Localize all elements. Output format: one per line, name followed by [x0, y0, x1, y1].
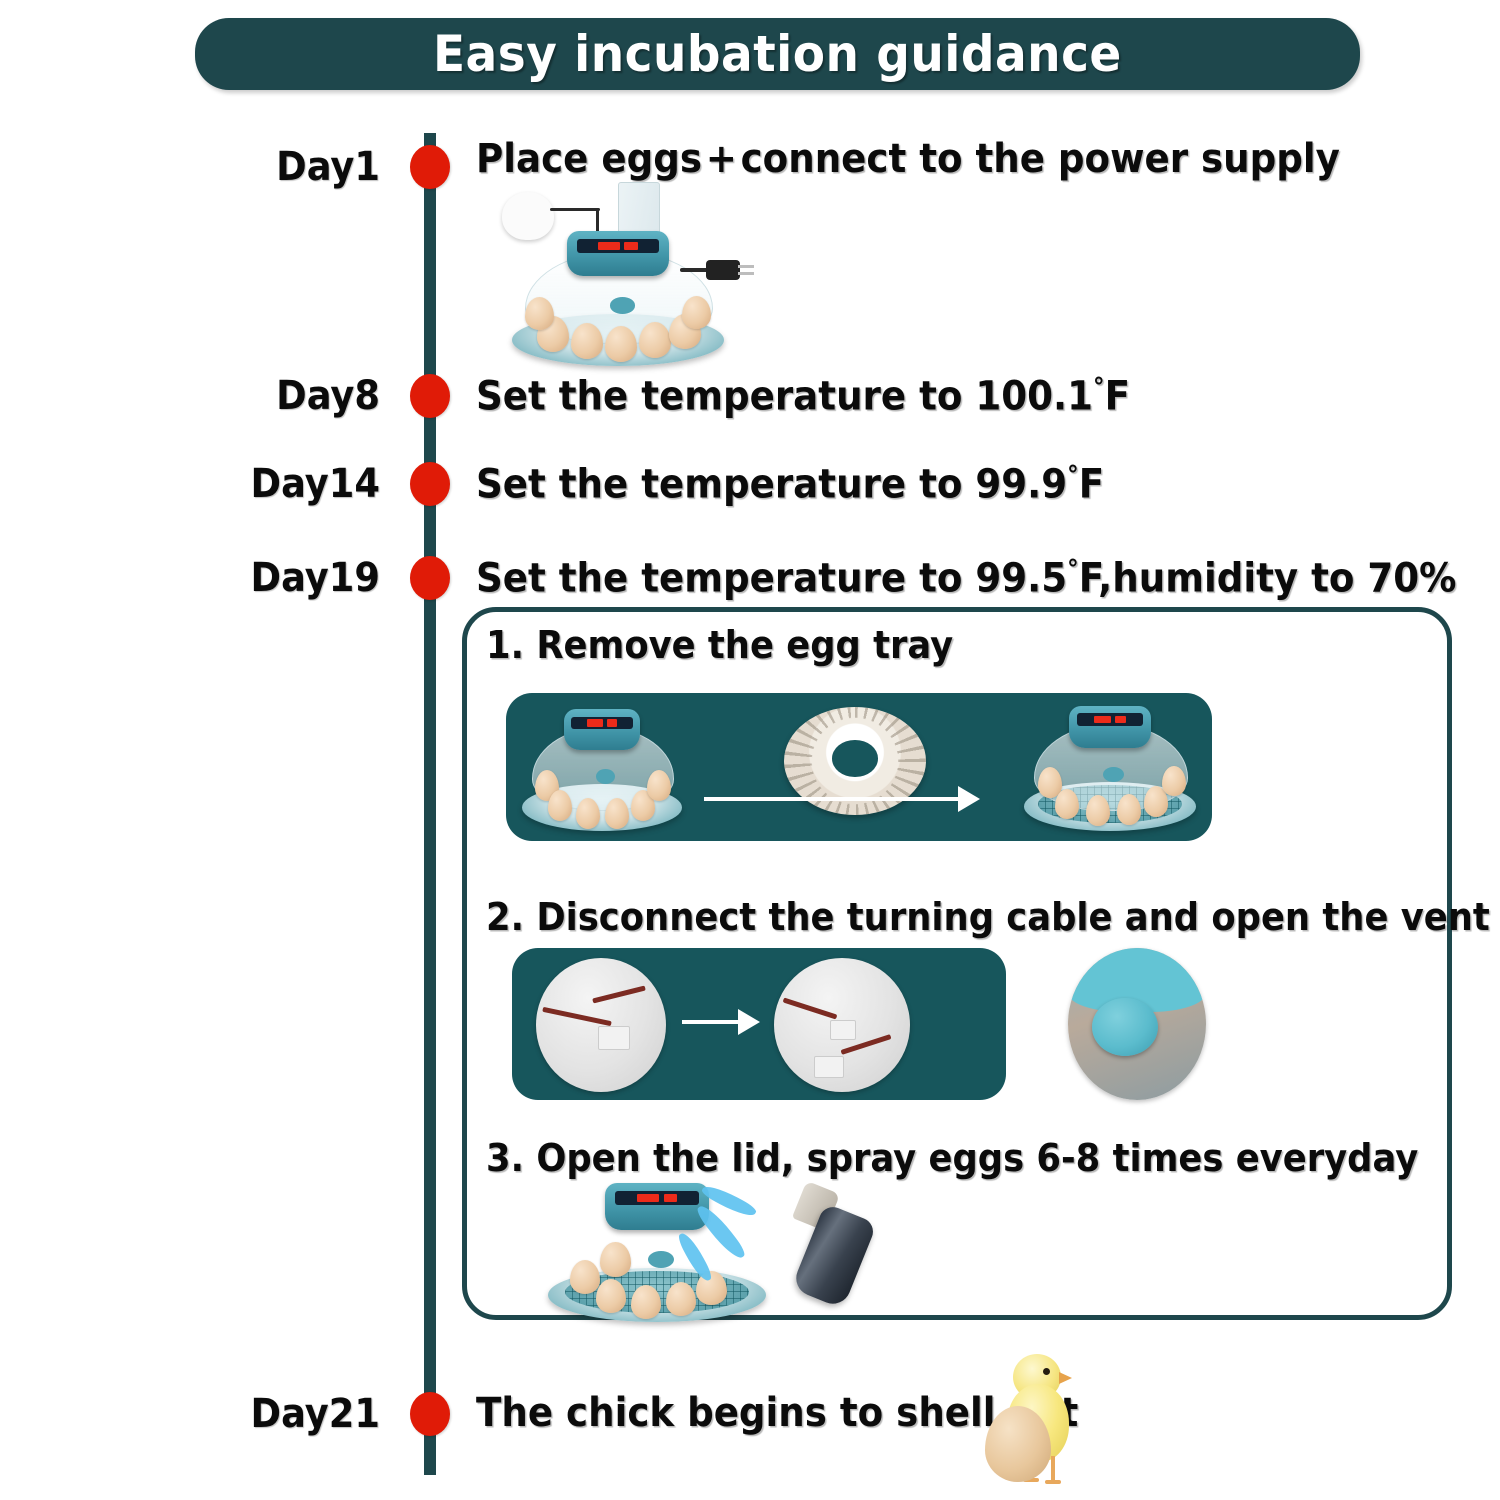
timeline-text-day8: Set the temperature to 100.1°F — [476, 372, 1130, 419]
incubator-control-panel — [605, 1183, 710, 1230]
plus-glyph: + — [702, 136, 741, 182]
egg — [1055, 789, 1079, 820]
display-segment — [1094, 716, 1111, 724]
substep-1-title: 1. Remove the egg tray — [486, 623, 953, 667]
timeline-text-day19-value: Set the temperature to 99.5 — [476, 555, 1067, 601]
chick-leg — [1051, 1456, 1055, 1482]
timeline-dot-day8 — [410, 374, 450, 418]
egg — [666, 1282, 697, 1316]
incubator-display — [577, 239, 658, 253]
egg — [570, 1260, 601, 1294]
display-segment — [607, 719, 617, 726]
turning-cable — [783, 997, 838, 1019]
timeline-text-day8-unit: F — [1105, 373, 1130, 419]
timeline-label-day19: Day19 — [159, 555, 380, 601]
incubator-display — [615, 1191, 699, 1205]
substep-2-photo-panel — [512, 948, 1006, 1100]
timeline-label-day21: Day21 — [159, 1391, 380, 1437]
timeline-text-day14-unit: F — [1079, 461, 1104, 507]
incubator-display — [1077, 713, 1143, 726]
cable-connector — [598, 1026, 630, 1050]
egg — [1162, 766, 1186, 797]
timeline-dot-day1 — [410, 145, 450, 189]
chick-foot — [1045, 1480, 1061, 1484]
vent-hole-photo — [1068, 948, 1206, 1100]
incubator-display — [571, 717, 632, 729]
egg — [548, 790, 572, 821]
degree-icon: ° — [1067, 554, 1079, 583]
turning-cable — [542, 1007, 612, 1026]
substep-3-illustration — [548, 1180, 948, 1325]
substep-1-photo-panel — [506, 693, 1212, 841]
page-title: Easy incubation guidance — [433, 25, 1122, 83]
display-segment — [664, 1194, 677, 1202]
timeline-label-day14: Day14 — [159, 461, 380, 507]
vent-knob-icon — [610, 297, 635, 314]
timeline-text-day8-value: Set the temperature to 100.1 — [476, 373, 1093, 419]
lamp-cord — [550, 208, 600, 211]
egg — [525, 297, 555, 330]
timeline-text-day1: Place eggs+connect to the power supply — [476, 136, 1340, 182]
illustration-incubator-power-supply — [492, 182, 742, 368]
timeline-label-day1: Day1 — [159, 144, 380, 190]
incubator-with-tray — [522, 707, 682, 831]
timeline-dot-day14 — [410, 462, 450, 506]
timeline-label-day8: Day8 — [159, 373, 380, 419]
chick-beak — [1059, 1372, 1072, 1384]
arrow-right-icon — [704, 797, 976, 801]
timeline-dot-day21 — [410, 1392, 450, 1436]
substep-2-title: 2. Disconnect the turning cable and open… — [486, 895, 1500, 939]
egg — [639, 322, 671, 358]
cable-connected-photo — [536, 958, 666, 1092]
display-segment — [587, 719, 603, 726]
substep-3-title: 3. Open the lid, spray eggs 6-8 times ev… — [486, 1136, 1418, 1180]
display-segment — [637, 1194, 659, 1202]
header-banner: Easy incubation guidance — [195, 18, 1360, 90]
incubator-control-panel — [567, 231, 669, 277]
egg — [596, 1279, 627, 1313]
egg — [600, 1242, 631, 1276]
degree-icon: ° — [1093, 372, 1105, 401]
vent-knob-icon — [596, 769, 615, 784]
display-segment — [624, 242, 637, 250]
timeline-spine — [424, 133, 436, 1475]
timeline-text-day19: Set the temperature to 99.5°F,humidity t… — [476, 554, 1456, 601]
egg — [631, 1285, 662, 1319]
vent-knob-icon — [1103, 767, 1124, 782]
timeline-text-day1-part2: connect to the power supply — [741, 136, 1340, 182]
vent-knob-icon — [648, 1251, 674, 1268]
power-plug-icon — [706, 260, 740, 280]
turning-cable — [592, 986, 646, 1004]
timeline-text-day14: Set the temperature to 99.9°F — [476, 460, 1104, 507]
incubator-without-tray — [1024, 703, 1196, 831]
egg — [647, 770, 671, 801]
egg — [1086, 795, 1110, 826]
arrow-right-icon — [682, 1020, 756, 1024]
infographic-page: Easy incubation guidance Day1 Place eggs… — [0, 0, 1500, 1500]
incubator-control-panel — [564, 709, 641, 750]
incubator-control-panel — [1069, 706, 1152, 748]
timeline-text-day1-part1: Place eggs — [476, 136, 702, 182]
display-segment — [1115, 716, 1126, 724]
cable-connector-loose — [814, 1056, 844, 1078]
egg — [605, 326, 637, 362]
degree-icon: ° — [1067, 460, 1079, 489]
egg — [571, 323, 603, 359]
cable-disconnected-photo — [774, 958, 910, 1092]
display-segment — [598, 242, 619, 250]
timeline-dot-day19 — [410, 556, 450, 600]
chick-eye — [1043, 1368, 1050, 1375]
incubator — [512, 228, 724, 366]
illustration-chick-with-egg — [985, 1352, 1105, 1482]
cable-connector — [830, 1020, 856, 1040]
timeline-text-day19-unit: F,humidity to 70% — [1079, 555, 1457, 601]
egg — [1117, 794, 1141, 825]
timeline-text-day14-value: Set the temperature to 99.9 — [476, 461, 1067, 507]
vent-knob-icon — [1092, 998, 1158, 1056]
